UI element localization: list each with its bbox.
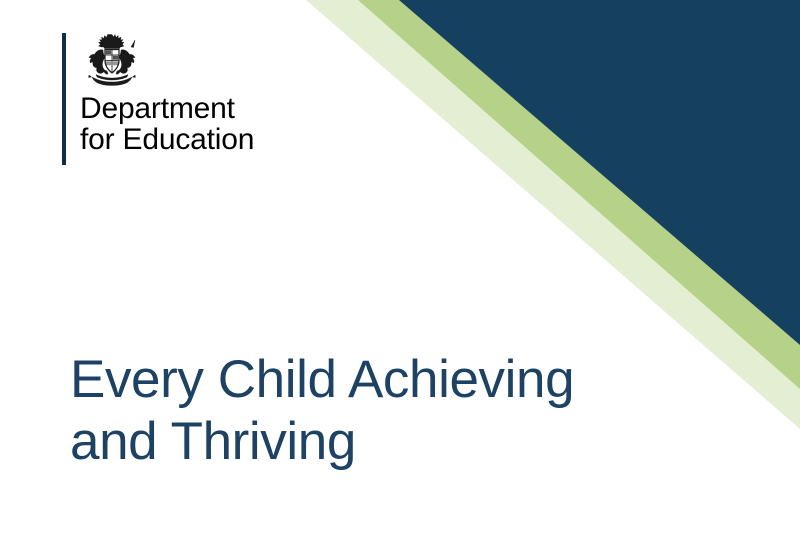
dfe-logo: Department for Education [62, 33, 254, 165]
cover-page: Department for Education Every Child Ach… [0, 0, 800, 533]
logo-line-for-education: for Education [80, 124, 254, 155]
band-navy [399, 0, 800, 345]
logo-line-department: Department [80, 93, 254, 124]
page-title-line-1: Every Child Achieving [70, 349, 690, 411]
royal-coat-of-arms-icon [81, 33, 143, 90]
band-mid-green [358, 0, 800, 389]
logo-body: Department for Education [66, 33, 254, 165]
page-title: Every Child Achieving and Thriving [70, 349, 690, 473]
page-title-line-2: and Thriving [70, 411, 690, 473]
